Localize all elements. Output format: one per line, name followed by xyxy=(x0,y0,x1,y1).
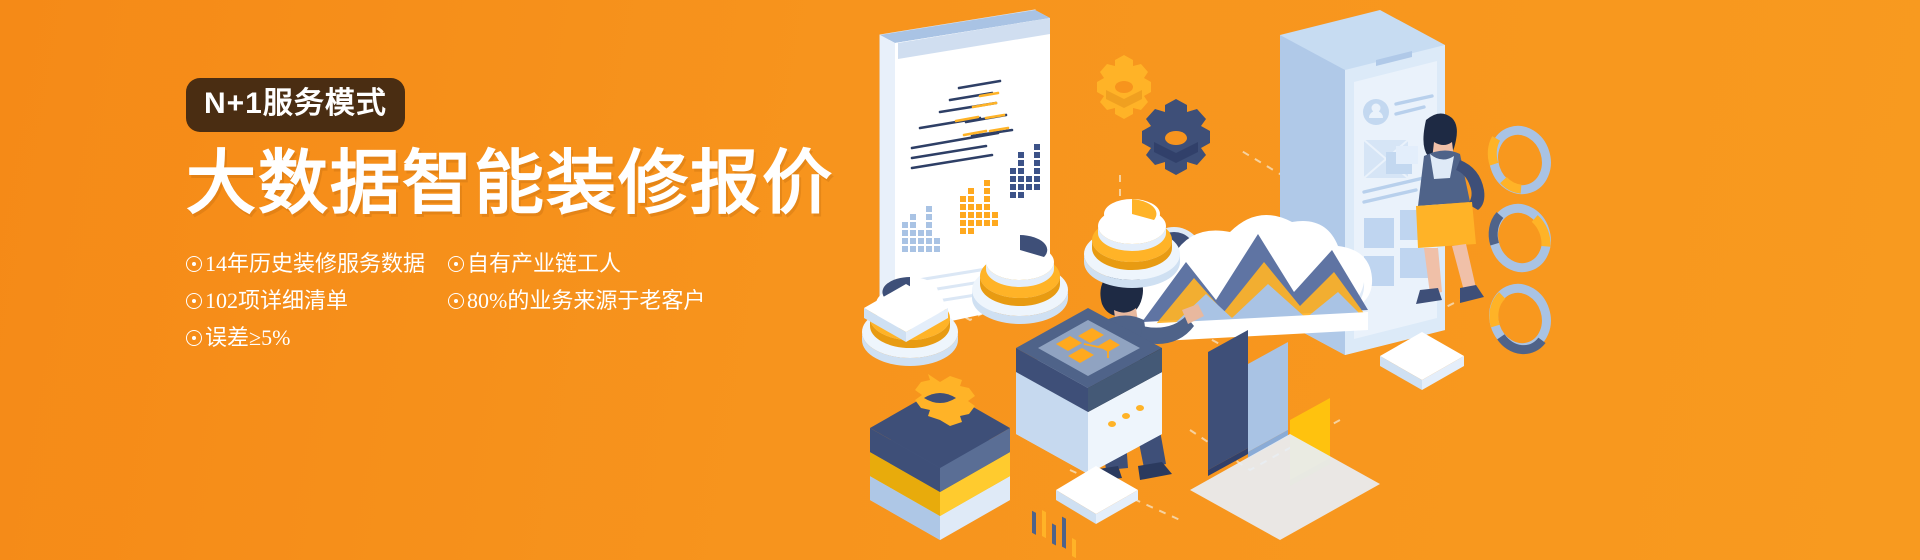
target-dot-icon xyxy=(448,256,464,272)
service-mode-badge: N+1服务模式 xyxy=(186,78,405,132)
target-dot-icon xyxy=(186,256,202,272)
list-item-label: 自有产业链工人 xyxy=(467,253,621,275)
bar-column-group xyxy=(1190,330,1380,540)
target-dot-icon xyxy=(186,330,202,346)
list-item-label: 102项详细清单 xyxy=(205,290,348,312)
donut-ring-icons xyxy=(1486,123,1554,356)
promo-banner: N+1服务模式 大数据智能装修报价 14年历史装修服务数据 自有产业链工人 10… xyxy=(0,0,1920,560)
isometric-illustration xyxy=(820,0,1640,560)
gear-navy-icon xyxy=(1142,99,1210,175)
mini-bar-chart xyxy=(1032,510,1076,558)
server-box xyxy=(1016,308,1162,558)
gear-amber-icon xyxy=(1097,55,1151,119)
database-stack-gear xyxy=(870,374,1010,540)
target-dot-icon xyxy=(448,293,464,309)
avatar-icon xyxy=(1363,99,1389,125)
list-item: 102项详细清单 xyxy=(186,290,448,312)
list-item: 误差≥5% xyxy=(186,327,448,349)
list-item: 自有产业链工人 xyxy=(448,253,826,275)
list-item-label: 误差≥5% xyxy=(205,327,290,349)
feature-bullet-list: 14年历史装修服务数据 自有产业链工人 102项详细清单 80%的业务来源于老客… xyxy=(186,245,826,356)
target-dot-icon xyxy=(186,293,202,309)
list-item-label: 14年历史装修服务数据 xyxy=(205,253,425,275)
list-item: 80%的业务来源于老客户 xyxy=(448,290,826,312)
list-item: 14年历史装修服务数据 xyxy=(186,253,448,275)
list-item-label: 80%的业务来源于老客户 xyxy=(467,290,705,312)
page-title: 大数据智能装修报价 xyxy=(186,148,826,219)
banner-copy-block: N+1服务模式 大数据智能装修报价 14年历史装修服务数据 自有产业链工人 10… xyxy=(186,78,826,356)
